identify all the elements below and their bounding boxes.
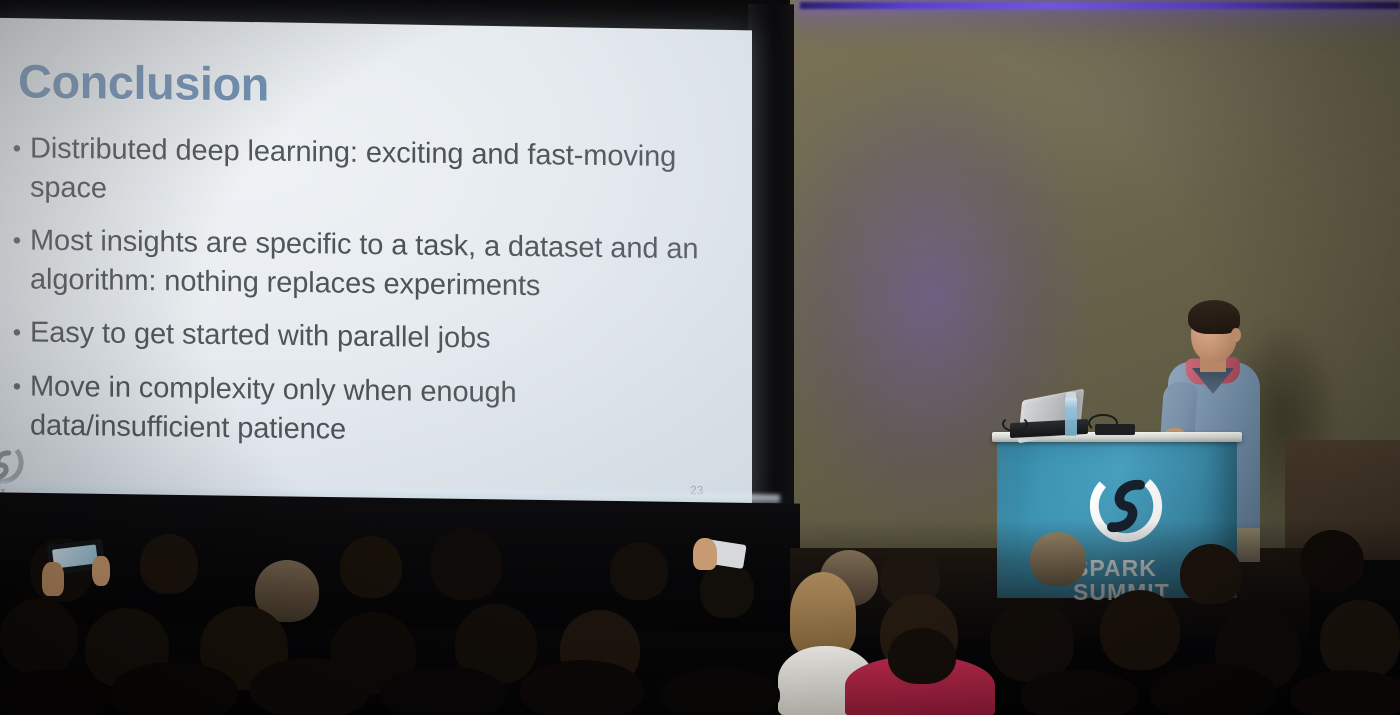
audience-head [1100,590,1180,670]
screen-frame-right-edge [748,4,794,545]
audience-hand-mid [693,538,717,570]
bullet-marker-icon: • [4,221,30,299]
desk-device [1095,424,1135,435]
water-bottle [1065,396,1077,436]
audience-head [888,628,956,684]
audience-head [110,662,238,715]
audience-head [1300,530,1364,592]
bullet-marker-icon: • [4,313,30,353]
water-bottle-cap [1066,392,1076,398]
slide-title: Conclusion [18,53,269,111]
audience-head [1180,544,1242,604]
audience-hand-left-2 [92,556,110,586]
bullet-item: • Move in complexity only when enough da… [4,367,724,454]
conference-photo-scene: Conclusion • Distributed deep learning: … [0,0,1400,715]
audience-head [610,542,668,600]
speaker-ear [1231,328,1241,342]
bullet-item: • Most insights are specific to a task, … [4,221,724,308]
audience-area [0,520,1400,715]
audience-head [430,528,502,600]
audience-head [0,670,110,715]
audience-head [340,536,402,598]
audience-head [700,562,754,618]
bullet-text: Easy to get started with parallel jobs [30,314,490,360]
audience-hand-left [42,562,64,596]
slide-bullet-list: • Distributed deep learning: exciting an… [4,129,724,468]
audience-head [1020,670,1138,715]
cable-coil-left [1002,416,1028,432]
audience-head [1150,664,1276,715]
audience-head-blonde [790,572,856,656]
audience-head [380,666,506,715]
projection-screen: Conclusion • Distributed deep learning: … [0,18,752,506]
audience-head [660,668,780,715]
bullet-marker-icon: • [4,129,30,207]
audience-head [990,600,1074,682]
bullet-text: Most insights are specific to a task, a … [30,222,720,309]
audience-head [520,660,644,715]
audience-head [1320,600,1400,680]
audience-head [250,658,370,715]
bullet-item: • Distributed deep learning: exciting an… [4,129,724,216]
bullet-item: • Easy to get started with parallel jobs [4,313,724,362]
audience-head [0,598,78,674]
audience-head [1290,670,1400,715]
audience-head-bald [1030,532,1086,586]
bullet-text: Distributed deep learning: exciting and … [30,130,720,217]
audience-head [140,534,198,594]
bullet-text: Move in complexity only when enough data… [30,368,720,455]
purple-led-strip [800,2,1400,9]
